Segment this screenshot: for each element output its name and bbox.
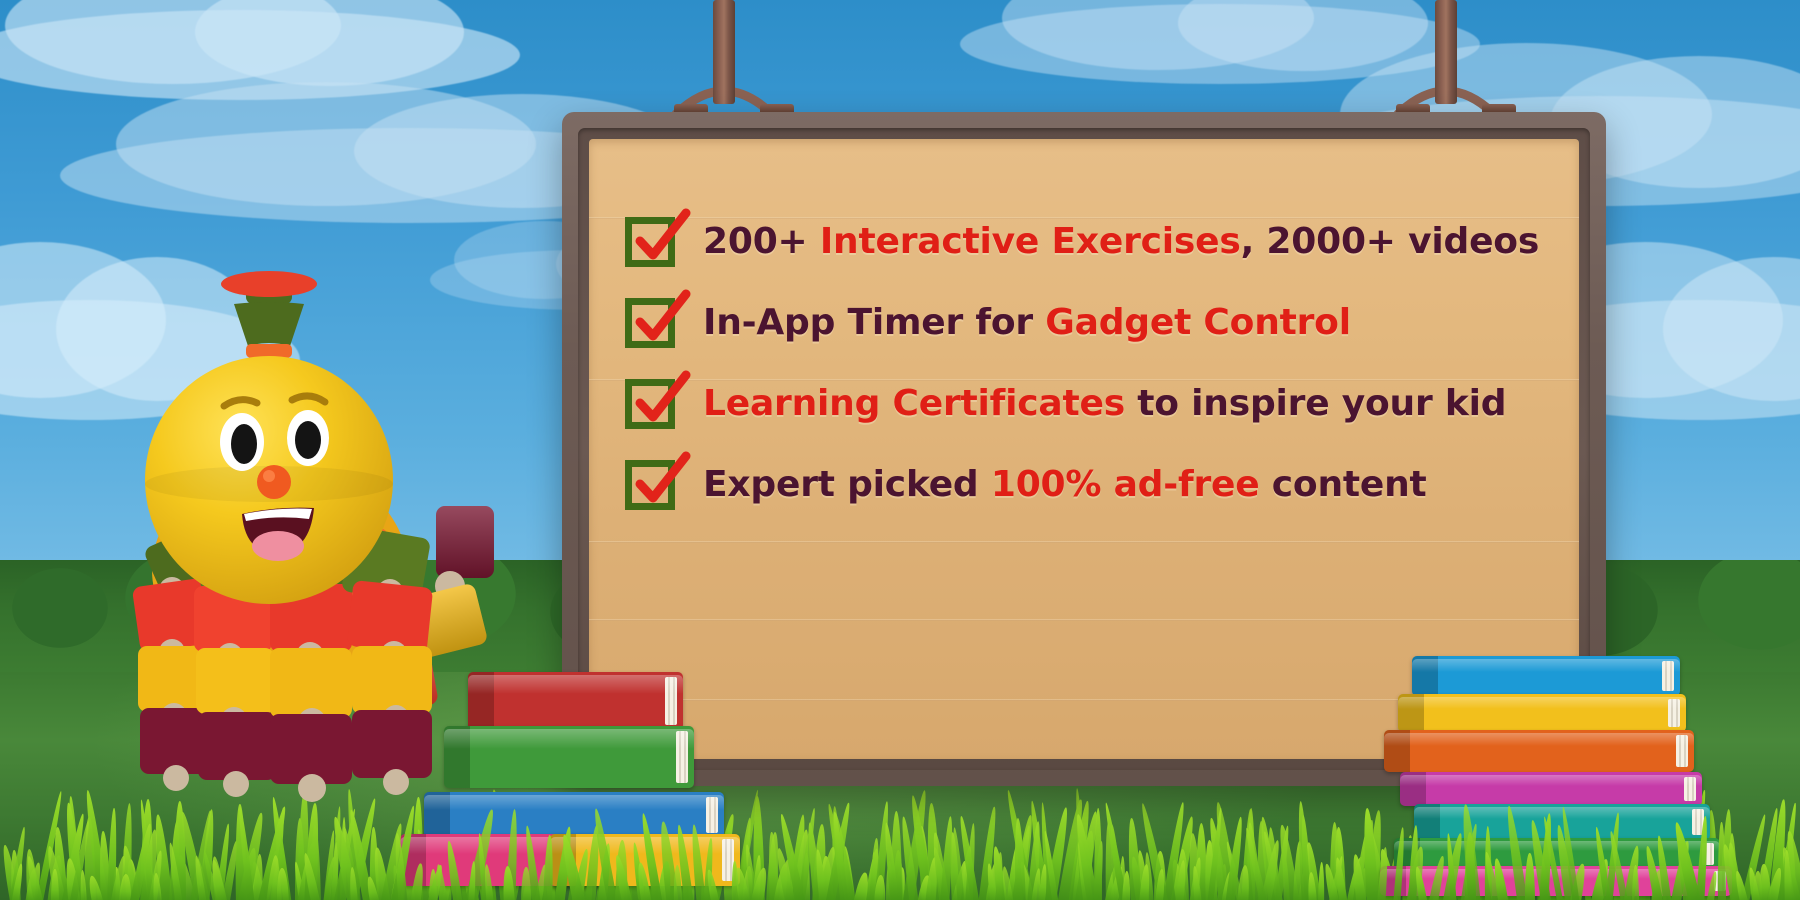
grass-blade (1318, 862, 1325, 900)
feature-text-highlight: Interactive Exercises (820, 221, 1241, 262)
book-stack-right (1388, 659, 1748, 894)
blue-book (1412, 656, 1680, 696)
blue-book (424, 792, 724, 838)
book-sheen (1412, 659, 1680, 672)
feature-text-plain: to inspire your kid (1125, 383, 1506, 424)
feature-row: Learning Certificates to inspire your ki… (625, 363, 1555, 444)
right-hanger-rod (1435, 0, 1457, 104)
book-sheen (1398, 697, 1686, 709)
feature-text-plain: Expert picked (703, 464, 991, 505)
feature-list: 200+ Interactive Exercises, 2000+ videos… (625, 201, 1555, 525)
checkbox-checked-icon[interactable] (625, 379, 675, 429)
orange-book (1384, 730, 1694, 772)
mascot-head (145, 271, 393, 604)
book-sheen (1400, 775, 1702, 786)
grass-blade (1119, 856, 1126, 900)
left-hanger-rod (713, 0, 735, 104)
grass-blade (1093, 841, 1104, 900)
checkbox-checked-icon[interactable] (625, 460, 675, 510)
book-sheen (1380, 869, 1732, 879)
feature-text: Learning Certificates to inspire your ki… (703, 383, 1506, 424)
pink-book (1380, 866, 1732, 896)
feature-row: Expert picked 100% ad-free content (625, 444, 1555, 525)
grass-blade (886, 861, 893, 900)
book-sheen (1384, 733, 1694, 746)
book-sheen (550, 837, 740, 854)
feature-text-highlight: Gadget Control (1045, 302, 1351, 343)
scene: 200+ Interactive Exercises, 2000+ videos… (0, 0, 1800, 900)
feature-text-plain: content (1259, 464, 1426, 505)
feature-text: In-App Timer for Gadget Control (703, 302, 1351, 343)
feature-row: 200+ Interactive Exercises, 2000+ videos (625, 201, 1555, 282)
book-sheen (468, 675, 683, 694)
book-sheen (444, 729, 694, 749)
feature-text-highlight: 100% ad-free (991, 464, 1260, 505)
grass-blade (803, 853, 810, 900)
feature-text: Expert picked 100% ad-free content (703, 464, 1427, 505)
feature-text-plain: 200+ (703, 221, 820, 262)
grass-blade (112, 867, 120, 900)
feature-text-plain: In-App Timer for (703, 302, 1045, 343)
book-sheen (424, 795, 724, 810)
book-sheen (1394, 841, 1720, 851)
plank-line (589, 619, 1579, 621)
grass-blade (99, 831, 111, 900)
plank-line (589, 541, 1579, 543)
magenta-book (1400, 772, 1702, 806)
grass-blade (10, 850, 21, 900)
red-book (468, 672, 683, 730)
feature-text-highlight: Learning Certificates (703, 383, 1125, 424)
grass-blade (949, 832, 961, 900)
green-book (444, 726, 694, 788)
book-stack-left (430, 660, 760, 900)
checkbox-checked-icon[interactable] (625, 298, 675, 348)
teal-book (1414, 804, 1710, 840)
feature-row: In-App Timer for Gadget Control (625, 282, 1555, 363)
yellow-book (550, 834, 740, 886)
feature-text-plain: , 2000+ videos (1241, 221, 1539, 262)
feature-text: 200+ Interactive Exercises, 2000+ videos (703, 221, 1539, 262)
book-sheen (1414, 807, 1710, 819)
grass-blade (767, 832, 778, 900)
grass-blade (1281, 852, 1290, 900)
checkbox-checked-icon[interactable] (625, 217, 675, 267)
yellow-book (1398, 694, 1686, 732)
grass-blade (893, 850, 903, 900)
grass-blade (993, 852, 1005, 900)
